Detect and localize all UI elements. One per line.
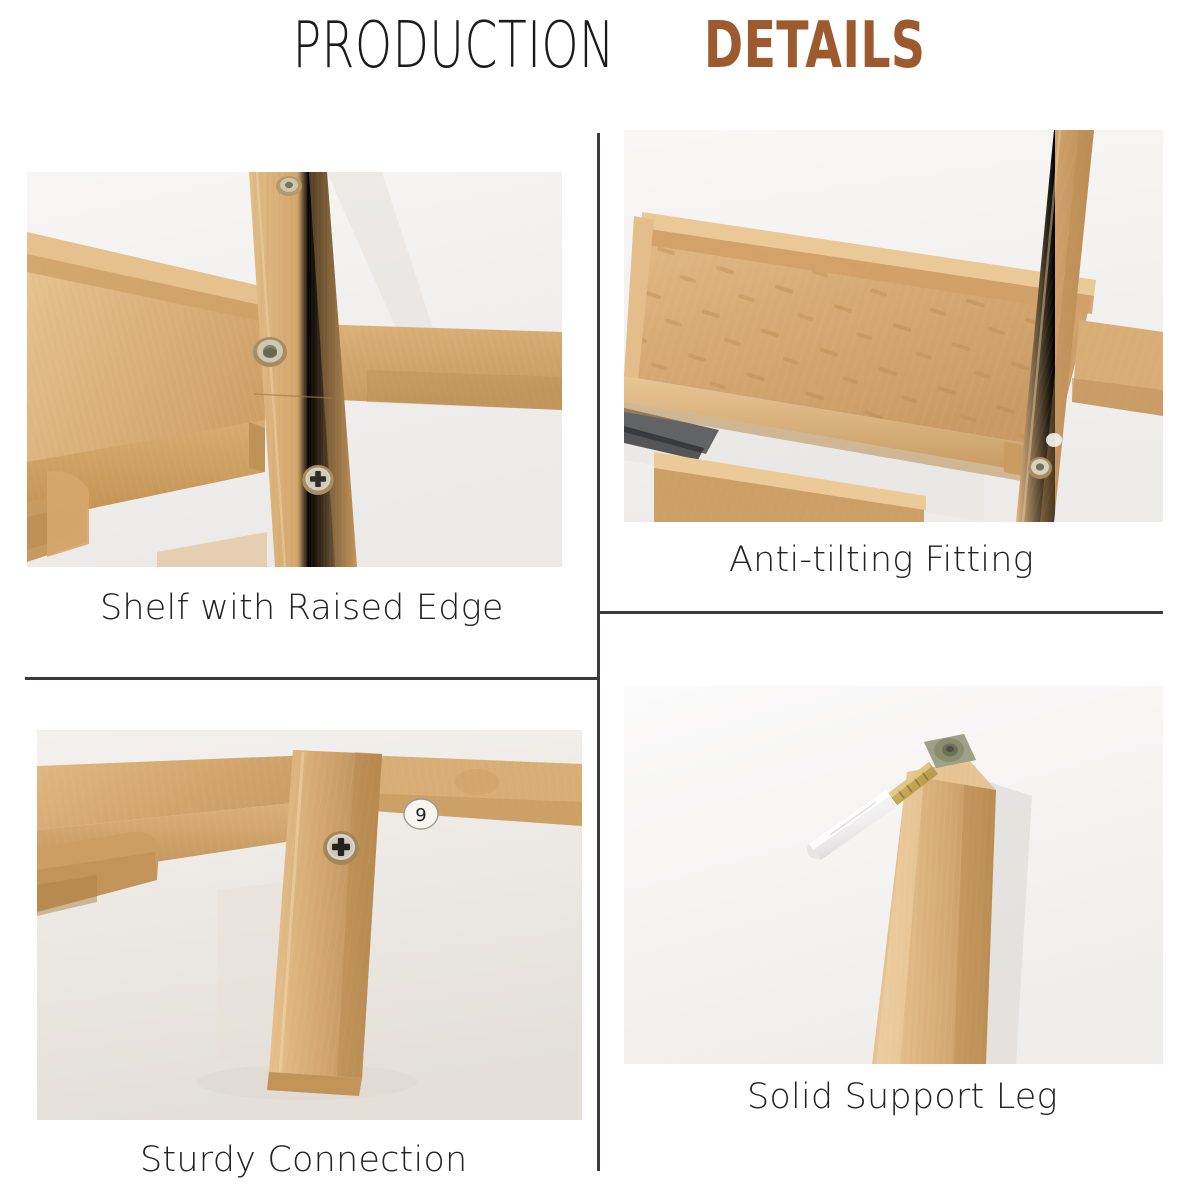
divider-bottom-left <box>25 677 598 680</box>
photo-shelf-with-raised-edge <box>27 172 562 567</box>
caption-sturdy-connection: Sturdy Connection <box>140 1140 467 1180</box>
photo-solid-support-leg <box>624 686 1163 1064</box>
photo-sturdy-connection: 9 <box>37 730 582 1120</box>
caption-solid-support-leg: Solid Support Leg <box>747 1077 1058 1117</box>
divider-top-right <box>598 611 1163 614</box>
caption-anti-tilting-fitting: Anti-tilting Fitting <box>729 540 1034 580</box>
caption-shelf-with-raised-edge: Shelf with Raised Edge <box>100 588 504 628</box>
divider-vertical <box>597 133 600 1171</box>
page-title-primary: PRODUCTION <box>292 14 614 78</box>
page-title: PRODUCTIONDETAILS <box>0 14 1200 78</box>
part-label-text: 9 <box>415 805 426 826</box>
page-title-accent: DETAILS <box>704 14 925 78</box>
photo-anti-tilting-fitting <box>624 130 1163 522</box>
